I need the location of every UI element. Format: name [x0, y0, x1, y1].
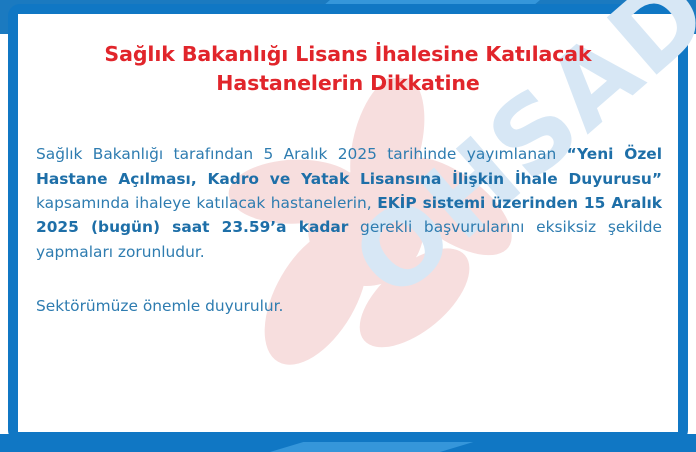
page-title-line-1: Sağlık Bakanlığı Lisans İhalesine Katıla…: [62, 40, 634, 69]
announcement-paragraph: Sağlık Bakanlığı tarafından 5 Aralık 202…: [36, 142, 662, 264]
body-segment-3: kapsamında ihaleye katılacak hastaneleri…: [36, 194, 377, 212]
announcement-poster: OHSAD Sağlık Bakanlığı Lisans İhalesine …: [0, 0, 696, 452]
closing-line: Sektörümüze önemle duyurulur.: [36, 294, 662, 318]
page-title: Sağlık Bakanlığı Lisans İhalesine Katıla…: [18, 14, 678, 98]
body-segment-4-bold: EKİP: [377, 194, 416, 212]
page-title-line-2: Hastanelerin Dikkatine: [62, 69, 634, 98]
body-segment-1: Sağlık Bakanlığı tarafından 5 Aralık 202…: [36, 145, 567, 163]
announcement-body: Sağlık Bakanlığı tarafından 5 Aralık 202…: [18, 142, 678, 318]
poster-content: Sağlık Bakanlığı Lisans İhalesine Katıla…: [18, 14, 678, 432]
